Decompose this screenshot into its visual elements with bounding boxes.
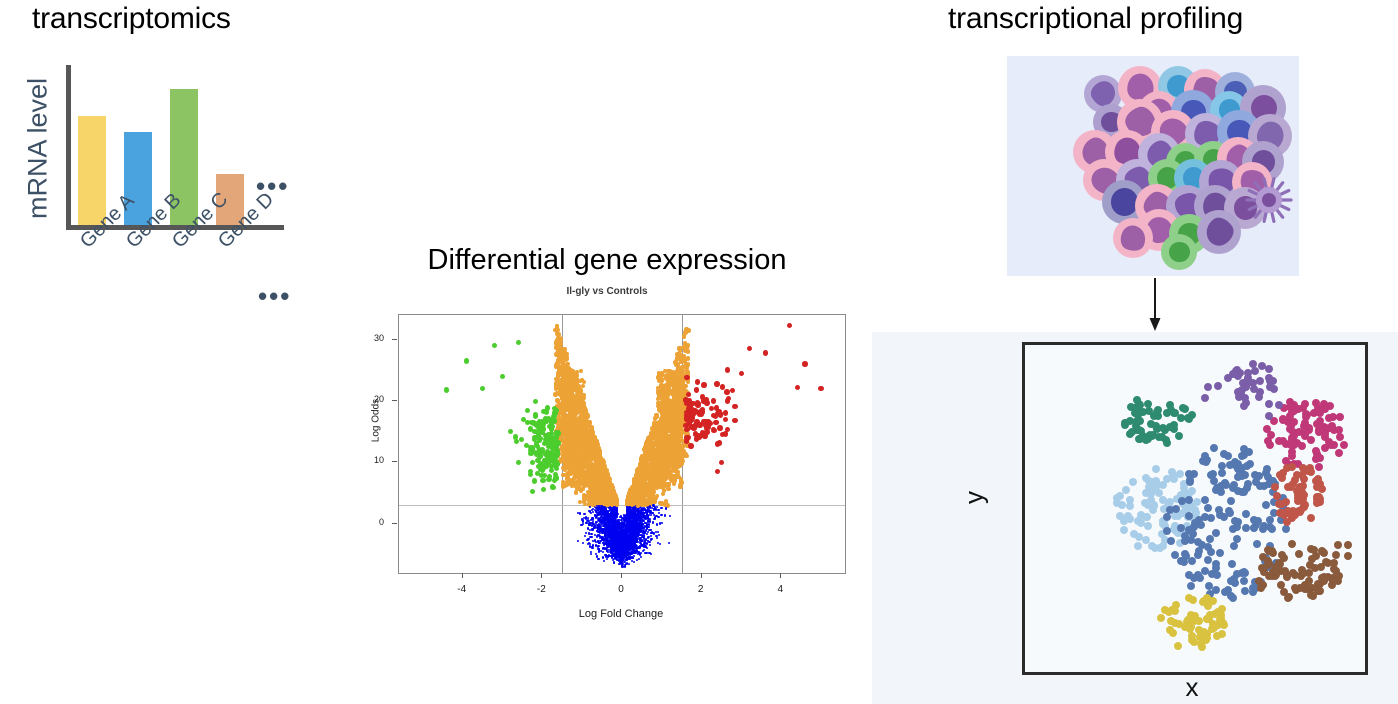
volcano-point-ns <box>659 543 661 545</box>
volcano-point-ns <box>603 560 605 562</box>
volcano-point-ns <box>621 522 623 524</box>
volcano-point-ns <box>604 534 606 536</box>
volcano-point-ns <box>618 556 620 558</box>
volcano-point-sig <box>556 332 560 336</box>
volcano-point-ns <box>587 527 589 529</box>
volcano-point-ns <box>643 508 645 510</box>
volcano-point-ns <box>624 546 626 548</box>
transcriptional-profiling-panel-title: transcriptional profiling <box>948 2 1243 36</box>
volcano-point-sig <box>639 456 643 460</box>
volcano-point-ns <box>614 518 616 520</box>
volcano-point-sig <box>648 462 652 466</box>
volcano-plot-subtitle: Il-gly vs Controls <box>352 286 862 297</box>
volcano-point-sig <box>593 443 597 447</box>
volcano-point-sig <box>558 358 562 362</box>
volcano-point-ns <box>577 540 579 542</box>
volcano-point-ns <box>642 550 644 552</box>
volcano-point-ns <box>614 536 616 538</box>
volcano-point-ns <box>649 544 651 546</box>
volcano-point-ns <box>629 547 631 549</box>
volcano-point-sig <box>630 502 634 506</box>
volcano-point-sig <box>574 490 578 494</box>
volcano-point-ns <box>660 507 662 509</box>
volcano-point-ns <box>597 540 599 542</box>
volcano-point-sig <box>595 472 599 476</box>
volcano-point-ns <box>647 508 649 510</box>
volcano-point-ns <box>624 565 626 567</box>
volcano-point-ns <box>592 518 594 520</box>
volcano-point-ns <box>659 522 661 524</box>
volcano-point-sig <box>678 348 682 352</box>
volcano-point-ns <box>653 508 655 510</box>
volcano-point-ns <box>641 512 643 514</box>
volcano-point-ns <box>587 538 589 540</box>
volcano-point-ns <box>616 508 618 510</box>
volcano-point-ns <box>582 520 584 522</box>
volcano-point-ns <box>660 514 662 516</box>
volcano-point-ns <box>582 542 584 544</box>
volcano-point-sig <box>661 492 665 496</box>
volcano-point-sig <box>600 468 604 472</box>
volcano-point-ns <box>645 538 647 540</box>
volcano-point-ns <box>626 536 628 538</box>
volcano-point-ns <box>580 524 582 526</box>
volcano-point-sig <box>685 365 689 369</box>
volcano-point-sig <box>582 497 586 501</box>
volcano-point-ns <box>600 550 602 552</box>
volcano-threshold-hline-1 <box>399 505 845 506</box>
volcano-point-sig <box>580 487 584 491</box>
volcano-point-ns <box>589 506 591 508</box>
volcano-point-ns <box>605 508 607 510</box>
volcano-plot-title: Differential gene expression <box>352 244 862 277</box>
volcano-point-ns <box>669 515 671 517</box>
volcano-point-ns <box>639 512 641 514</box>
volcano-point-sig <box>644 456 648 460</box>
volcano-point-sig <box>683 452 687 456</box>
volcano-point-sig <box>555 324 559 328</box>
volcano-point-ns <box>636 549 638 551</box>
volcano-point-ns <box>585 522 587 524</box>
volcano-point-ns <box>590 533 592 535</box>
volcano-point-sig <box>592 487 596 491</box>
volcano-point-ns <box>646 533 648 535</box>
volcano-point-ns <box>585 532 587 534</box>
volcano-point-ns <box>638 558 640 560</box>
volcano-point-sig <box>641 489 645 493</box>
volcano-point-sig <box>648 473 652 477</box>
volcano-point-ns <box>661 522 663 524</box>
volcano-point-ns <box>606 528 608 530</box>
volcano-point-ns <box>656 537 658 539</box>
volcano-point-ns <box>591 546 593 548</box>
volcano-point-ns <box>609 533 611 535</box>
volcano-point-ns <box>649 518 651 520</box>
volcano-point-ns <box>628 563 630 565</box>
volcano-point-ns <box>634 516 636 518</box>
volcano-point-ns <box>640 556 642 558</box>
volcano-point-ns <box>650 532 652 534</box>
volcano-point-sig <box>560 364 564 368</box>
volcano-point-ns <box>652 504 654 506</box>
volcano-point-ns <box>644 546 646 548</box>
volcano-point-ns <box>620 542 622 544</box>
volcano-point-ns <box>607 515 609 517</box>
volcano-point-sig <box>554 364 558 368</box>
volcano-point-ns <box>632 513 634 515</box>
volcano-point-ns <box>644 542 646 544</box>
volcano-point-ns <box>623 551 625 553</box>
volcano-point-ns <box>650 539 652 541</box>
volcano-point-sig <box>641 496 645 500</box>
volcano-point-sig <box>588 495 592 499</box>
volcano-point-ns <box>585 517 587 519</box>
volcano-point-ns <box>645 552 647 554</box>
volcano-point-ns <box>656 506 658 508</box>
volcano-point-sig <box>603 487 607 491</box>
volcano-point-ns <box>636 520 638 522</box>
volcano-point-ns <box>627 521 629 523</box>
volcano-point-ns <box>620 545 622 547</box>
volcano-point-ns <box>619 522 621 524</box>
volcano-plot: Differential gene expression Il-gly vs C… <box>352 240 862 640</box>
volcano-point-sig <box>676 362 680 366</box>
volcano-point-ns <box>600 521 602 523</box>
volcano-point-sig <box>642 447 646 451</box>
volcano-point-ns <box>609 521 611 523</box>
volcano-point-sig <box>630 494 634 498</box>
volcano-point-ns <box>579 512 581 514</box>
volcano-point-ns <box>602 556 604 558</box>
volcano-point-ns <box>657 509 659 511</box>
volcano-point-ns <box>605 541 607 543</box>
volcano-point-ns <box>621 565 623 567</box>
volcano-point-sig <box>648 467 652 471</box>
volcano-point-sig <box>594 481 598 485</box>
volcano-point-sig <box>590 467 594 471</box>
volcano-plot-area <box>398 314 846 574</box>
volcano-point-sig <box>684 327 688 331</box>
volcano-point-sig <box>682 334 686 338</box>
volcano-point-ns <box>605 532 607 534</box>
volcano-point-ns <box>597 558 599 560</box>
volcano-point-sig <box>628 488 632 492</box>
volcano-point-ns <box>646 542 648 544</box>
volcano-point-ns <box>637 509 639 511</box>
volcano-point-ns <box>598 535 600 537</box>
volcano-point-sig <box>658 501 662 505</box>
volcano-point-sig <box>652 421 656 425</box>
bar-chart-ellipsis-bars: ••• <box>256 173 289 199</box>
volcano-x-axis-label: Log Fold Change <box>398 608 844 620</box>
transcriptomics-panel-title: transcriptomics <box>32 2 231 36</box>
volcano-point-ns <box>577 512 579 514</box>
volcano-point-ns <box>597 545 599 547</box>
volcano-point-ns <box>583 513 585 515</box>
volcano-point-sig <box>636 502 640 506</box>
volcano-point-ns <box>591 525 593 527</box>
volcano-point-ns <box>606 558 608 560</box>
volcano-point-ns <box>656 523 658 525</box>
volcano-point-ns <box>627 534 629 536</box>
volcano-point-sig <box>598 479 602 483</box>
volcano-point-ns <box>590 553 592 555</box>
volcano-point-ns <box>625 519 627 521</box>
volcano-point-ns <box>588 524 590 526</box>
volcano-point-ns <box>631 556 633 558</box>
volcano-point-sig <box>563 354 567 358</box>
volcano-point-ns <box>587 517 589 519</box>
volcano-point-ns <box>624 555 626 557</box>
bar-chart-y-axis-label: mRNA level <box>23 64 54 234</box>
volcano-point-ns <box>617 542 619 544</box>
volcano-point-sig <box>662 488 666 492</box>
volcano-point-sig <box>655 494 659 498</box>
volcano-point-ns <box>657 516 659 518</box>
volcano-point-ns <box>610 547 612 549</box>
volcano-point-ns <box>602 547 604 549</box>
volcano-point-ns <box>599 513 601 515</box>
volcano-point-ns <box>665 507 667 509</box>
volcano-point-ns <box>640 539 642 541</box>
volcano-point-sig <box>590 501 594 505</box>
volcano-point-ns <box>621 563 623 565</box>
volcano-point-ns <box>608 535 610 537</box>
bar-chart-ellipsis-labels: ••• <box>258 283 291 309</box>
volcano-point-ns <box>631 528 633 530</box>
volcano-point-ns <box>628 544 630 546</box>
volcano-point-ns <box>606 550 608 552</box>
volcano-point-ns <box>610 515 612 517</box>
volcano-point-ns <box>650 553 652 555</box>
volcano-point-ns <box>595 544 597 546</box>
volcano-point-ns <box>664 515 666 517</box>
volcano-point-ns <box>630 541 632 543</box>
volcano-point-sig <box>594 464 598 468</box>
mrna-bar-chart: mRNA level Gene AGene BGene CGene D ••• … <box>0 55 330 325</box>
volcano-point-ns <box>633 561 635 563</box>
volcano-point-ns <box>652 521 654 523</box>
volcano-point-ns <box>619 516 621 518</box>
volcano-point-sig <box>592 457 596 461</box>
volcano-point-ns <box>650 514 652 516</box>
volcano-point-ns <box>654 517 656 519</box>
volcano-point-sig <box>677 355 681 359</box>
volcano-point-ns <box>642 519 644 521</box>
volcano-point-ns <box>657 531 659 533</box>
bar-gene-a <box>78 116 106 225</box>
volcano-point-ns <box>584 535 586 537</box>
volcano-point-ns <box>649 511 651 513</box>
volcano-point-ns <box>599 517 601 519</box>
volcano-point-ns <box>632 508 634 510</box>
volcano-point-ns <box>601 537 603 539</box>
volcano-point-ns <box>639 529 641 531</box>
volcano-point-ns <box>593 526 595 528</box>
volcano-point-ns <box>650 535 652 537</box>
volcano-point-ns <box>591 528 593 530</box>
volcano-point-ns <box>613 562 615 564</box>
volcano-point-ns <box>610 552 612 554</box>
volcano-point-ns <box>596 555 598 557</box>
volcano-point-ns <box>668 542 670 544</box>
volcano-point-ns <box>649 505 651 507</box>
volcano-point-ns <box>598 548 600 550</box>
